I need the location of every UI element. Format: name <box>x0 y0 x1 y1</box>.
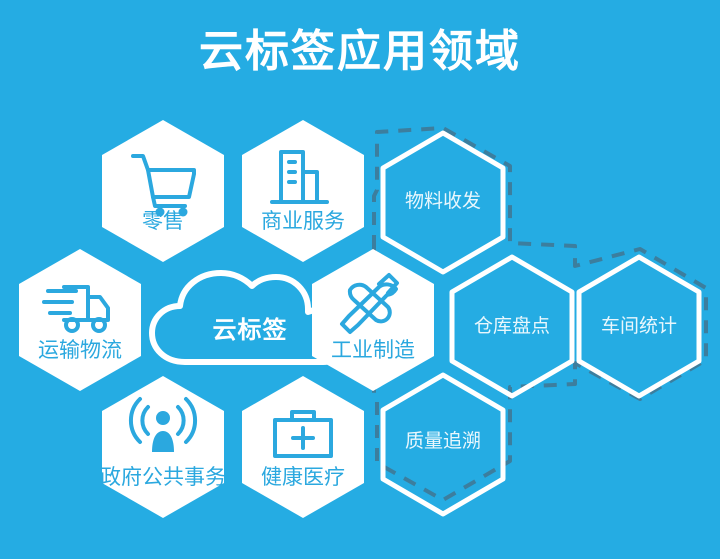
hexagon-quality-traceability[interactable] <box>383 375 503 514</box>
hexagon-graph <box>0 0 720 559</box>
infographic-canvas: 云标签应用领域 <box>0 0 720 559</box>
hexagon-warehouse-inventory[interactable] <box>452 257 572 396</box>
hexagon-industrial-manufacturing[interactable] <box>312 249 434 391</box>
hexagon-retail[interactable] <box>102 120 224 262</box>
